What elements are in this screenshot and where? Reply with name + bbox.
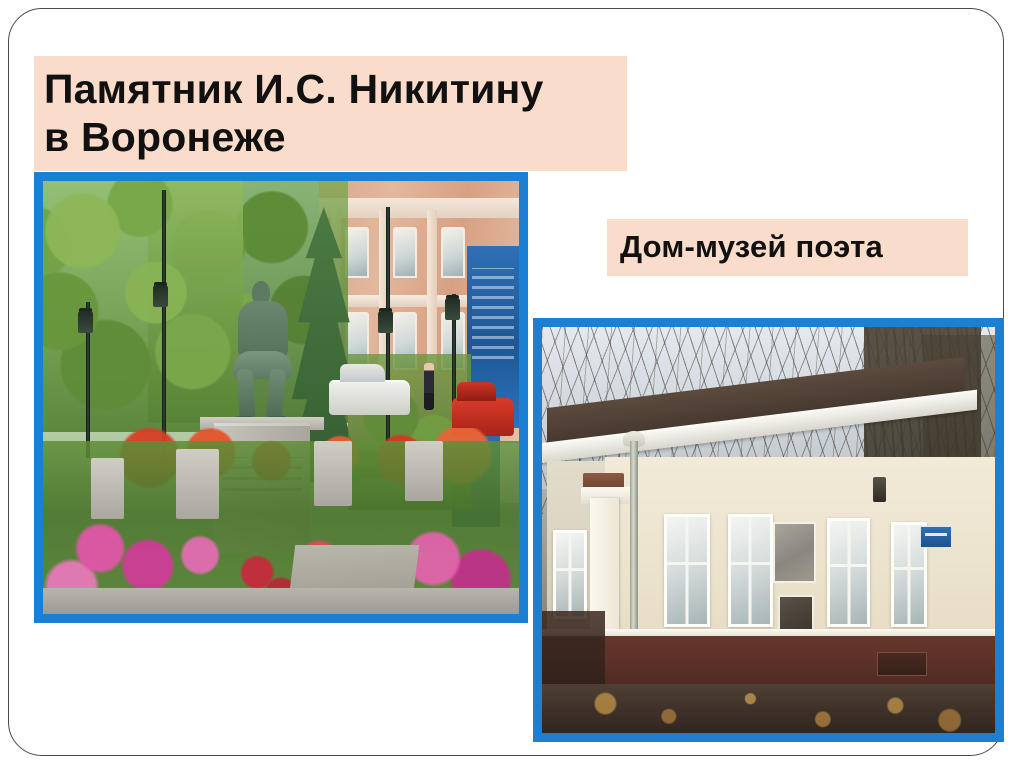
museum-window-2 [728, 514, 773, 628]
monument-scene: ПРЕМЬЕР [43, 181, 519, 614]
memorial-plaque-stone [773, 522, 816, 583]
main-title-line-2: в Воронеже [44, 113, 627, 161]
photo-house-museum [533, 318, 1004, 742]
museum-window-1 [664, 514, 709, 628]
wet-ground-with-leaves [542, 684, 995, 733]
building-window-2 [393, 227, 417, 278]
museum-window-side [553, 530, 587, 619]
secondary-title-banner: Дом-музей поэта [607, 219, 968, 276]
pedestrian-figure [424, 363, 434, 411]
building-cornice-upper [319, 198, 519, 218]
willow-tree-left [43, 181, 243, 432]
museum-window-3 [827, 518, 870, 628]
building-window-3 [441, 227, 465, 278]
photo-museum-inner [542, 327, 995, 733]
window-mullion-horizontal [667, 562, 706, 565]
lamppost-lantern-left [78, 311, 93, 333]
photo-monument-inner: ПРЕМЬЕР [43, 181, 519, 614]
lamppost-lantern-right [378, 311, 393, 333]
window-mullion-horizontal [731, 562, 770, 565]
car-white [329, 380, 410, 415]
window-mullion-horizontal [894, 567, 924, 570]
granite-kerb-block-4 [405, 441, 443, 502]
memorial-plaque-dark [778, 595, 814, 632]
sidewalk-strip [43, 588, 519, 614]
street-name-sign [920, 526, 952, 548]
main-title-banner: Памятник И.С. Никитину в Воронеже [34, 56, 627, 171]
building-window-1 [345, 227, 369, 278]
lamppost-pole-centre [162, 190, 166, 458]
statue-leg-left [236, 369, 255, 421]
window-mullion-vertical [847, 521, 850, 625]
window-mullion-vertical [685, 517, 688, 625]
granite-kerb-block-1 [91, 458, 124, 519]
window-mullion-vertical [569, 533, 572, 616]
window-mullion-horizontal [830, 564, 867, 567]
basement-vent [877, 652, 927, 676]
lamppost-lantern-centre [153, 285, 168, 307]
window-mullion-vertical [749, 517, 752, 625]
lamppost-lantern-far-right [445, 298, 460, 320]
statue-torso [238, 301, 288, 358]
museum-scene [542, 327, 995, 733]
main-title-line-1: Памятник И.С. Никитину [44, 65, 627, 113]
window-mullion-vertical [907, 525, 910, 625]
granite-kerb-block-3 [314, 441, 352, 506]
wall-lamp [873, 477, 887, 501]
granite-kerb-block-2 [176, 449, 219, 518]
window-mullion-horizontal [556, 568, 584, 571]
building-pilaster-3 [427, 210, 437, 370]
slide-canvas: Памятник И.С. Никитину в Воронеже Дом-му… [0, 0, 1024, 768]
photo-monument-nikitin: ПРЕМЬЕР [34, 172, 528, 623]
statue-seated-figure [226, 281, 297, 424]
